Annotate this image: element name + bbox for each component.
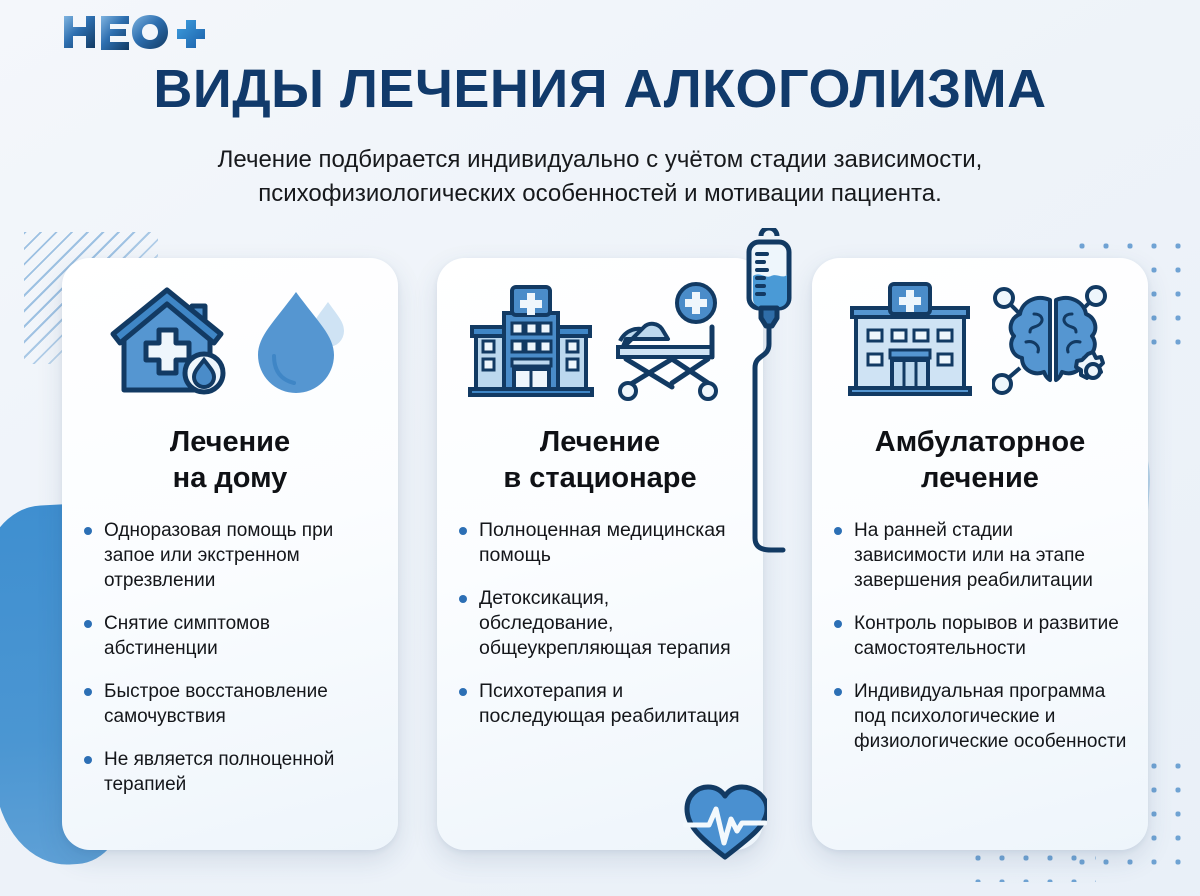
list-item: Полноценная медицинская помощь bbox=[459, 518, 745, 568]
list-item: Не является полноценной терапией bbox=[84, 747, 380, 797]
card-bullet-list: Полноценная медицинская помощь Детоксика… bbox=[437, 518, 763, 729]
clinic-building-icon bbox=[846, 280, 974, 409]
card-inpatient-treatment[interactable]: Лечение в стационаре Полноценная медицин… bbox=[437, 258, 763, 850]
cards-container: Лечение на дому Одноразовая помощь при з… bbox=[0, 0, 1200, 896]
list-item: Одноразовая помощь при запое или экстрен… bbox=[84, 518, 380, 593]
card-icons bbox=[62, 258, 398, 408]
list-item: Контроль порывов и развитие самостоятель… bbox=[834, 611, 1130, 661]
card-title: Амбулаторное лечение bbox=[812, 424, 1148, 496]
hospital-bed-icon bbox=[612, 279, 732, 410]
card-icons bbox=[812, 258, 1148, 408]
list-item: На ранней стадии зависимости или на этап… bbox=[834, 518, 1130, 593]
card-outpatient-treatment[interactable]: Амбулаторное лечение На ранней стадии за… bbox=[812, 258, 1148, 850]
card-home-treatment[interactable]: Лечение на дому Одноразовая помощь при з… bbox=[62, 258, 398, 850]
hospital-building-icon bbox=[468, 279, 594, 410]
iv-drip-bag-icon bbox=[733, 228, 803, 563]
list-item: Психотерапия и последующая реабилитация bbox=[459, 679, 745, 729]
house-medical-icon bbox=[104, 278, 234, 411]
water-drop-icon bbox=[252, 278, 356, 411]
card-icons bbox=[437, 258, 763, 408]
card-bullet-list: На ранней стадии зависимости или на этап… bbox=[812, 518, 1148, 754]
brain-gear-icon bbox=[992, 280, 1114, 409]
list-item: Быстрое восстановление самочувствия bbox=[84, 679, 380, 729]
card-title: Лечение на дому bbox=[62, 424, 398, 496]
list-item: Индивидуальная программа под психологиче… bbox=[834, 679, 1130, 754]
list-item: Детоксикация, обследование, общеукрепляю… bbox=[459, 586, 745, 661]
card-title: Лечение в стационаре bbox=[437, 424, 763, 496]
heart-pulse-icon bbox=[683, 783, 767, 868]
list-item: Снятие симптомов абстиненции bbox=[84, 611, 380, 661]
card-bullet-list: Одноразовая помощь при запое или экстрен… bbox=[62, 518, 398, 797]
